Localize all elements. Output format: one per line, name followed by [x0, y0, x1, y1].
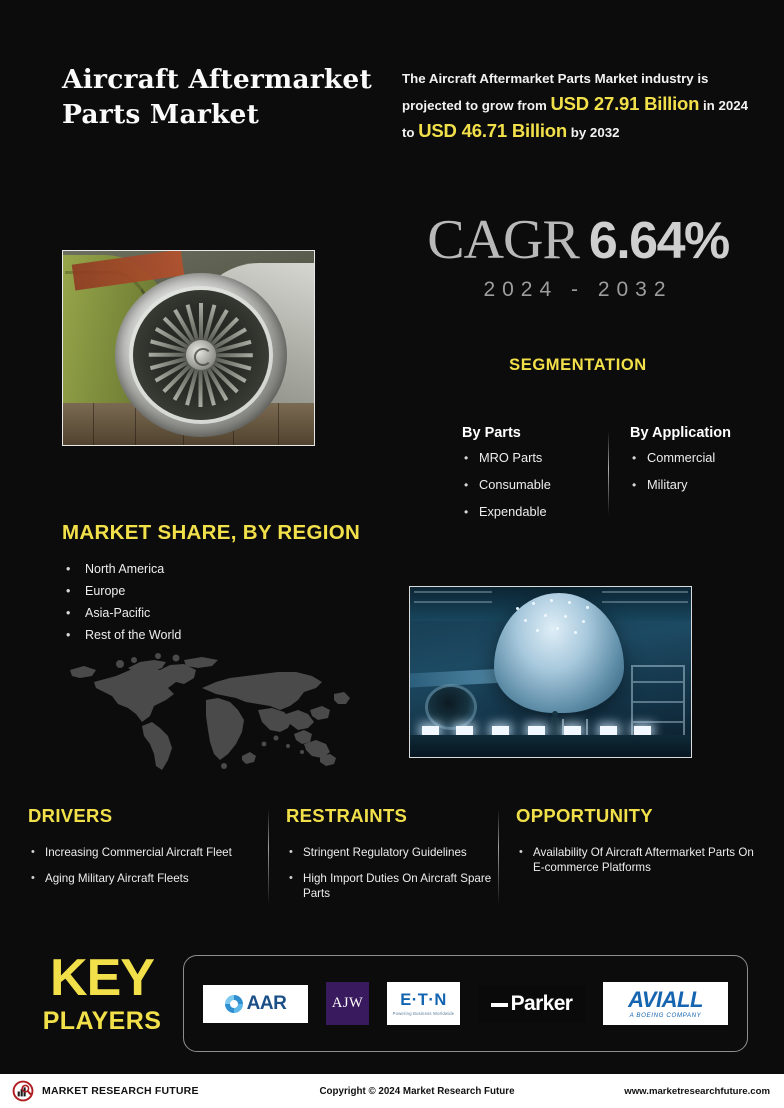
engine-nacelle — [115, 273, 287, 437]
drivers-heading: DRIVERS — [28, 805, 268, 827]
segment-item-label: MRO Parts — [479, 450, 542, 465]
aar-label: AAR — [247, 993, 287, 1015]
drivers-restraints-opportunity: DRIVERS •Increasing Commercial Aircraft … — [28, 805, 756, 912]
restraints-heading: RESTRAINTS — [286, 805, 498, 827]
bullet-icon: • — [66, 606, 70, 620]
cagr-line: CAGR6.64% — [402, 208, 754, 272]
segmentation-title: SEGMENTATION — [402, 356, 754, 375]
segment-item-label: Commercial — [647, 450, 715, 465]
jet-engine-photo-content — [63, 251, 314, 445]
players-word: PLAYERS — [32, 1004, 172, 1038]
aviall-tagline: A BOEING COMPANY — [630, 1012, 702, 1019]
driver-item-label: Increasing Commercial Aircraft Fleet — [45, 846, 232, 859]
value-2024: USD 27.91 Billion — [551, 93, 700, 114]
region-item-label: Rest of the World — [85, 628, 181, 642]
list-item: •Aging Military Aircraft Fleets — [28, 871, 268, 886]
world-map-icon — [58, 648, 358, 780]
eaton-tagline: Powering Business Worldwide — [393, 1011, 455, 1016]
list-item: •Stringent Regulatory Guidelines — [286, 845, 498, 860]
segment-item-label: Expendable — [479, 504, 547, 519]
aar-mark-icon — [225, 995, 243, 1013]
opportunity-column: OPPORTUNITY •Availability Of Aircraft Af… — [498, 805, 756, 912]
engine-spinner-hub — [186, 340, 216, 370]
list-item: •Increasing Commercial Aircraft Fleet — [28, 845, 268, 860]
segmentation-list-by-application: •Commercial •Military — [630, 451, 754, 492]
intro-part3: by 2032 — [567, 125, 620, 140]
opportunity-list: •Availability Of Aircraft Aftermarket Pa… — [516, 845, 756, 875]
bullet-icon: • — [66, 628, 70, 642]
column-divider — [268, 809, 269, 905]
region-list: •North America •Europe •Asia-Pacific •Re… — [62, 562, 181, 650]
footer-brand: MARKET RESEARCH FUTURE — [0, 1080, 300, 1102]
key-players-title: KEY PLAYERS — [32, 952, 172, 1038]
segmentation-columns: By Parts •MRO Parts •Consumable •Expenda… — [462, 425, 754, 532]
list-item: •Rest of the World — [62, 628, 181, 642]
driver-item-label: Aging Military Aircraft Fleets — [45, 872, 189, 885]
bullet-icon: • — [31, 871, 35, 886]
aircraft-hangar-photo — [409, 586, 692, 758]
bullet-icon: • — [289, 845, 293, 860]
list-item: •North America — [62, 562, 181, 576]
engine-intake — [133, 290, 269, 420]
bullet-icon: • — [519, 845, 523, 860]
bullet-icon: • — [464, 478, 468, 492]
footer-brand-text: MARKET RESEARCH FUTURE — [42, 1085, 199, 1097]
logo-ajw: AJW — [326, 982, 369, 1025]
cagr-value: 6.64% — [589, 212, 729, 270]
list-item: •MRO Parts — [462, 451, 608, 465]
bullet-icon: • — [464, 505, 468, 519]
ajw-label: AJW — [332, 995, 363, 1012]
restraints-list: •Stringent Regulatory Guidelines •High I… — [286, 845, 498, 901]
opportunity-item-label: Availability Of Aircraft Aftermarket Par… — [533, 846, 754, 874]
segmentation-column-by-parts: By Parts •MRO Parts •Consumable •Expenda… — [462, 425, 608, 532]
footer-copyright: Copyright © 2024 Market Research Future — [300, 1086, 534, 1097]
cagr-label: CAGR — [427, 209, 579, 271]
bullet-icon: • — [632, 478, 636, 492]
bullet-icon: • — [632, 451, 636, 465]
market-research-future-logo-icon — [12, 1080, 34, 1102]
cagr-block: CAGR6.64% 2024 - 2032 — [402, 208, 754, 302]
bullet-icon: • — [66, 562, 70, 576]
logo-parker: Parker — [478, 985, 585, 1023]
restraints-column: RESTRAINTS •Stringent Regulatory Guideli… — [268, 805, 498, 912]
list-item: •Expendable — [462, 505, 608, 519]
list-item: •Military — [630, 478, 754, 492]
region-section-title: MARKET SHARE, BY REGION — [62, 521, 360, 545]
restraint-item-label: High Import Duties On Aircraft Spare Par… — [303, 872, 491, 900]
list-item: •High Import Duties On Aircraft Spare Pa… — [286, 871, 498, 901]
cagr-years: 2024 - 2032 — [402, 278, 754, 302]
infographic-canvas: Aircraft Aftermarket Parts Market The Ai… — [0, 0, 784, 1108]
page-title: Aircraft Aftermarket Parts Market — [62, 62, 392, 132]
key-players-logo-box: AAR AJW E·T·N Powering Business Worldwid… — [183, 955, 748, 1052]
jet-engine-photo — [62, 250, 315, 446]
segment-item-label: Military — [647, 477, 688, 492]
segmentation-column-by-application: By Application •Commercial •Military — [608, 425, 754, 532]
value-2032: USD 46.71 Billion — [418, 120, 567, 141]
region-item-label: Asia-Pacific — [85, 606, 150, 620]
restraint-item-label: Stringent Regulatory Guidelines — [303, 846, 467, 859]
bullet-icon: • — [66, 584, 70, 598]
logo-aar: AAR — [203, 985, 308, 1023]
list-item: •Europe — [62, 584, 181, 598]
key-word: KEY — [32, 952, 172, 1004]
bullet-icon: • — [289, 871, 293, 886]
list-item: •Commercial — [630, 451, 754, 465]
segmentation-head-by-parts: By Parts — [462, 425, 608, 441]
aircraft-engine — [428, 687, 474, 727]
footer-bar: MARKET RESEARCH FUTURE Copyright © 2024 … — [0, 1074, 784, 1108]
logo-eaton: E·T·N Powering Business Worldwide — [387, 982, 460, 1025]
opportunity-heading: OPPORTUNITY — [516, 805, 756, 827]
region-item-label: Europe — [85, 584, 125, 598]
segmentation-head-by-application: By Application — [630, 425, 754, 441]
list-item: •Consumable — [462, 478, 608, 492]
eaton-label: E·T·N — [400, 992, 447, 1009]
drivers-column: DRIVERS •Increasing Commercial Aircraft … — [28, 805, 268, 912]
segmentation-divider — [608, 431, 609, 515]
column-divider — [498, 809, 499, 905]
aviall-label: AVIALL — [628, 988, 703, 1011]
footer-url[interactable]: www.marketresearchfuture.com — [534, 1086, 784, 1097]
list-item: •Asia-Pacific — [62, 606, 181, 620]
bullet-icon: • — [464, 451, 468, 465]
segmentation-list-by-parts: •MRO Parts •Consumable •Expendable — [462, 451, 608, 519]
list-item: •Availability Of Aircraft Aftermarket Pa… — [516, 845, 756, 875]
segment-item-label: Consumable — [479, 477, 551, 492]
market-value-statement: The Aircraft Aftermarket Parts Market in… — [402, 66, 754, 145]
logo-aviall: AVIALL A BOEING COMPANY — [603, 982, 728, 1025]
hangar-floor — [410, 735, 691, 757]
drivers-list: •Increasing Commercial Aircraft Fleet •A… — [28, 845, 268, 886]
region-item-label: North America — [85, 562, 164, 576]
bullet-icon: • — [31, 845, 35, 860]
parker-label: Parker — [491, 992, 573, 1016]
